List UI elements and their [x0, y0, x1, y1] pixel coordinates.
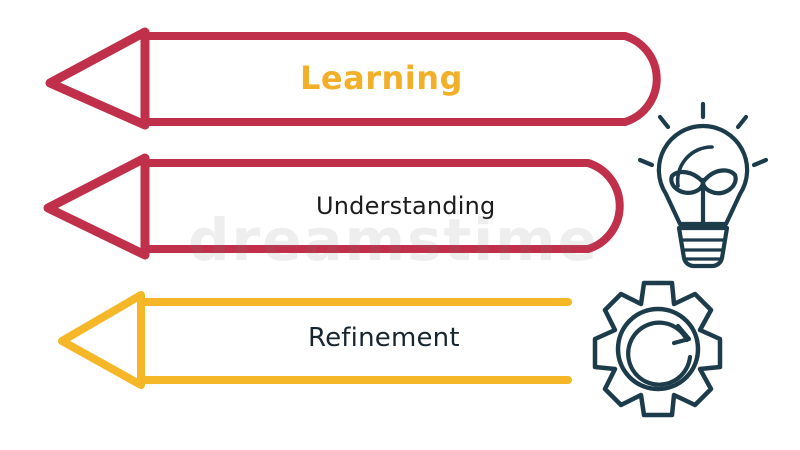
row-label-learning: Learning	[300, 62, 463, 94]
gear-refresh-icon	[595, 283, 720, 415]
diagram-canvas: Learning Understanding Refinement dreams…	[0, 0, 800, 450]
lightbulb-sprout-icon	[640, 104, 766, 266]
arrowhead-learning	[50, 32, 145, 125]
row-label-refinement: Refinement	[308, 325, 460, 351]
arrowhead-understanding	[48, 158, 145, 255]
arrowhead-refinement	[62, 295, 141, 385]
row-label-understanding: Understanding	[316, 194, 495, 218]
